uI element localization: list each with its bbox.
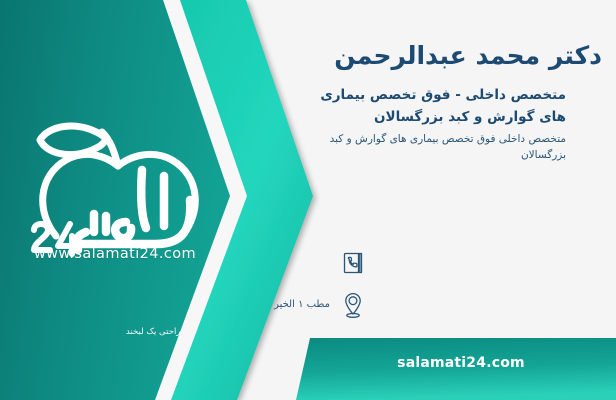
contact-row-address[interactable]: مطب ۱ الخیر: [336, 288, 596, 322]
doctor-specialty: متخصص داخلی - فوق تخصص بیماری های گوارش …: [292, 85, 602, 129]
contact-row-phone[interactable]: [336, 246, 596, 280]
doctor-info: دکتر محمد عبدالرحمن متخصص داخلی - فوق تخ…: [292, 40, 602, 164]
logo-website-url: www.salamati24.com: [20, 246, 210, 262]
footer-website-url[interactable]: salamati24.com: [306, 355, 616, 371]
contact-list: مطب ۱ الخیر: [336, 246, 596, 330]
doctor-name: دکتر محمد عبدالرحمن: [292, 40, 602, 71]
location-pin-icon: [336, 288, 370, 322]
business-card: براحتی یک لبخند www.salamati24.com دکتر …: [0, 0, 616, 400]
contact-label-address: مطب ۱ الخیر: [274, 298, 336, 312]
doctor-specialty-secondary: متخصص داخلی فوق تخصص بیماری های گوارش و …: [292, 131, 602, 164]
phone-book-icon: [336, 246, 370, 280]
